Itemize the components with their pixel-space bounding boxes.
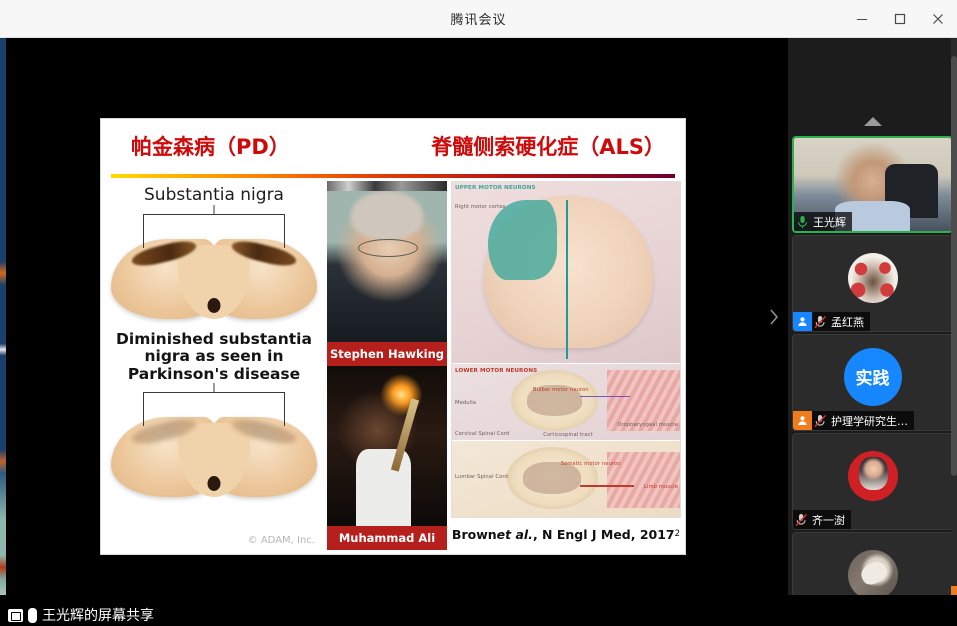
- motor-neuron-figure: UPPER MOTOR NEURONS Right motor cortex L…: [451, 181, 681, 518]
- portrait-stephen-hawking: [327, 181, 447, 342]
- cohost-badge-icon: [793, 411, 812, 430]
- citation-etal: et al.: [497, 527, 533, 542]
- lumbar-cord-section: [507, 447, 598, 509]
- presentation-slide: 帕金森病（PD） 脊髓侧索硬化症（ALS） Substantia nigra: [100, 118, 686, 555]
- participant-namerow-3: 齐一澍: [793, 510, 851, 529]
- corticospinal-axon: [566, 200, 568, 359]
- citation-author: Brown: [452, 527, 497, 542]
- participants-sidebar: 王光辉: [788, 38, 957, 626]
- participant-tiles: 王光辉: [792, 96, 953, 626]
- sidebar-scrollbar-track[interactable]: [951, 38, 957, 626]
- participant-name-3: 齐一澍: [810, 512, 851, 528]
- cerebral-aqueduct-2: [208, 476, 221, 491]
- avatar-initials: 实践: [856, 364, 890, 389]
- portraits-column: Stephen Hawking Muhammad Ali: [327, 181, 447, 550]
- citation-rest: , N Engl J Med, 2017: [533, 527, 675, 542]
- leader-lines-bottom: [105, 383, 323, 405]
- label-lumbar-spinal-cord: Lumbar Spinal Cord: [455, 474, 508, 480]
- label-limb-muscle: Limb muscle: [644, 484, 678, 490]
- label-upper-motor-neurons: UPPER MOTOR NEURONS: [455, 185, 536, 192]
- motor-cortex-highlight: [488, 200, 556, 280]
- screen-share-label: 王光辉的屏幕共享: [42, 605, 154, 625]
- tencent-meeting-window: 腾讯会议 帕金森病（PD） 脊髓侧: [0, 0, 957, 626]
- slide-title-right: 脊髓侧索硬化症（ALS）: [431, 131, 665, 161]
- close-icon: [932, 13, 944, 25]
- adam-attribution: © ADAM, Inc.: [248, 535, 315, 546]
- microphone-muted-icon: [793, 510, 810, 529]
- portrait-label-ali: Muhammad Ali: [327, 526, 447, 550]
- portrait-muhammad-ali: [327, 366, 447, 527]
- midbrain-section-normal: [111, 227, 317, 327]
- leader-right: [284, 214, 285, 248]
- label-corticospinal-tract: Corticospinal tract: [543, 432, 593, 438]
- citation-ref: 2: [675, 529, 680, 539]
- participant-name-1: 孟红燕: [829, 314, 870, 330]
- substantia-nigra-caption: Substantia nigra: [105, 185, 323, 205]
- portrait-label-hawking: Stephen Hawking: [327, 342, 447, 366]
- maximize-button[interactable]: [881, 0, 919, 38]
- film-strip-decoration: [327, 181, 447, 191]
- slide-title-left: 帕金森病（PD）: [131, 131, 290, 161]
- participant-tile-2[interactable]: 实践: [792, 334, 953, 431]
- label-somatic-motor-neuron: Somatic motor neuron: [561, 461, 621, 467]
- participant-name-2: 护理学研究生…: [829, 413, 914, 429]
- motor-neuron-figure-panel: UPPER MOTOR NEURONS Right motor cortex L…: [451, 181, 681, 550]
- bottom-toolbar: 王光辉的屏幕共享: [0, 595, 957, 626]
- title-underline-rule: [111, 174, 675, 178]
- midbrain-section-parkinsons: [111, 405, 317, 505]
- leader-right-2: [284, 392, 285, 426]
- label-cervical-spinal-cord: Cervical Spinal Cord: [455, 431, 509, 437]
- title-bar: 腾讯会议: [0, 0, 957, 38]
- maximize-icon: [894, 13, 906, 25]
- participant-tile-0[interactable]: 王光辉: [792, 136, 953, 233]
- minimize-button[interactable]: [843, 0, 881, 38]
- microphone-muted-icon: [812, 411, 829, 430]
- participant-namerow-0: 王光辉: [794, 212, 852, 231]
- participant-tile-1[interactable]: 孟红燕: [792, 235, 953, 332]
- diminished-nigra-caption: Diminished substantia nigra as seen in P…: [105, 331, 323, 383]
- participant-namerow-1: 孟红燕: [793, 312, 870, 331]
- collapse-sidebar-chevron[interactable]: [766, 303, 782, 331]
- medulla-section: [511, 370, 598, 431]
- participant-name-0: 王光辉: [811, 214, 852, 230]
- label-oropharyngeal-muscle: Oropharyngeal muscle: [617, 422, 678, 428]
- leader-left-2: [143, 392, 144, 426]
- shared-screen-stage[interactable]: 帕金森病（PD） 脊髓侧索硬化症（ALS） Substantia nigra: [6, 38, 788, 595]
- participant-avatar-3: [848, 451, 898, 501]
- microphone-icon: [28, 608, 37, 623]
- screen-share-status[interactable]: 王光辉的屏幕共享: [0, 604, 162, 626]
- participant-avatar-2: 实践: [844, 348, 902, 406]
- participant-namerow-2: 护理学研究生…: [793, 411, 914, 430]
- label-medulla: Medulla: [455, 400, 476, 406]
- figure-lower-motor-neurons: LOWER MOTOR NEURONS Medulla Bulbar motor…: [452, 363, 680, 440]
- chevron-right-icon: [768, 307, 780, 327]
- slide-header: 帕金森病（PD） 脊髓侧索硬化症（ALS）: [101, 119, 685, 181]
- window-title: 腾讯会议: [450, 9, 506, 28]
- leader-left: [143, 214, 144, 248]
- substantia-nigra-panel: Substantia nigra Diminished substantia n…: [105, 181, 323, 550]
- figure-upper-motor-neurons: UPPER MOTOR NEURONS Right motor cortex: [452, 182, 680, 363]
- cerebral-aqueduct: [208, 298, 221, 313]
- label-bulbar-motor-neuron: Bulbar motor neuron: [533, 387, 589, 393]
- figure-citation: Brown et al. , N Engl J Med, 2017 2: [451, 518, 681, 550]
- close-button[interactable]: [919, 0, 957, 38]
- sidebar-scrollbar-thumb[interactable]: [951, 56, 957, 476]
- participant-avatar-4: [848, 550, 898, 600]
- screen-share-icon: [8, 609, 23, 622]
- minimize-icon: [856, 13, 868, 25]
- participant-tile-3[interactable]: 齐一澍: [792, 433, 953, 530]
- label-right-motor-cortex: Right motor cortex: [455, 204, 506, 210]
- label-lower-motor-neurons: LOWER MOTOR NEURONS: [455, 368, 537, 375]
- leader-lines-top: [105, 205, 323, 227]
- window-controls: [843, 0, 957, 38]
- participant-avatar-1: [848, 253, 898, 303]
- figure-lumbar-level: Lumbar Spinal Cord Somatic motor neuron …: [452, 440, 680, 517]
- microphone-muted-icon: [812, 312, 829, 331]
- slide-body: Substantia nigra Diminished substantia n…: [101, 181, 685, 554]
- bulbar-axon: [580, 396, 630, 398]
- host-badge-icon: [793, 312, 812, 331]
- lumbar-gray-matter: [523, 462, 581, 494]
- microphone-on-icon: [794, 212, 811, 231]
- somatic-axon: [580, 485, 635, 487]
